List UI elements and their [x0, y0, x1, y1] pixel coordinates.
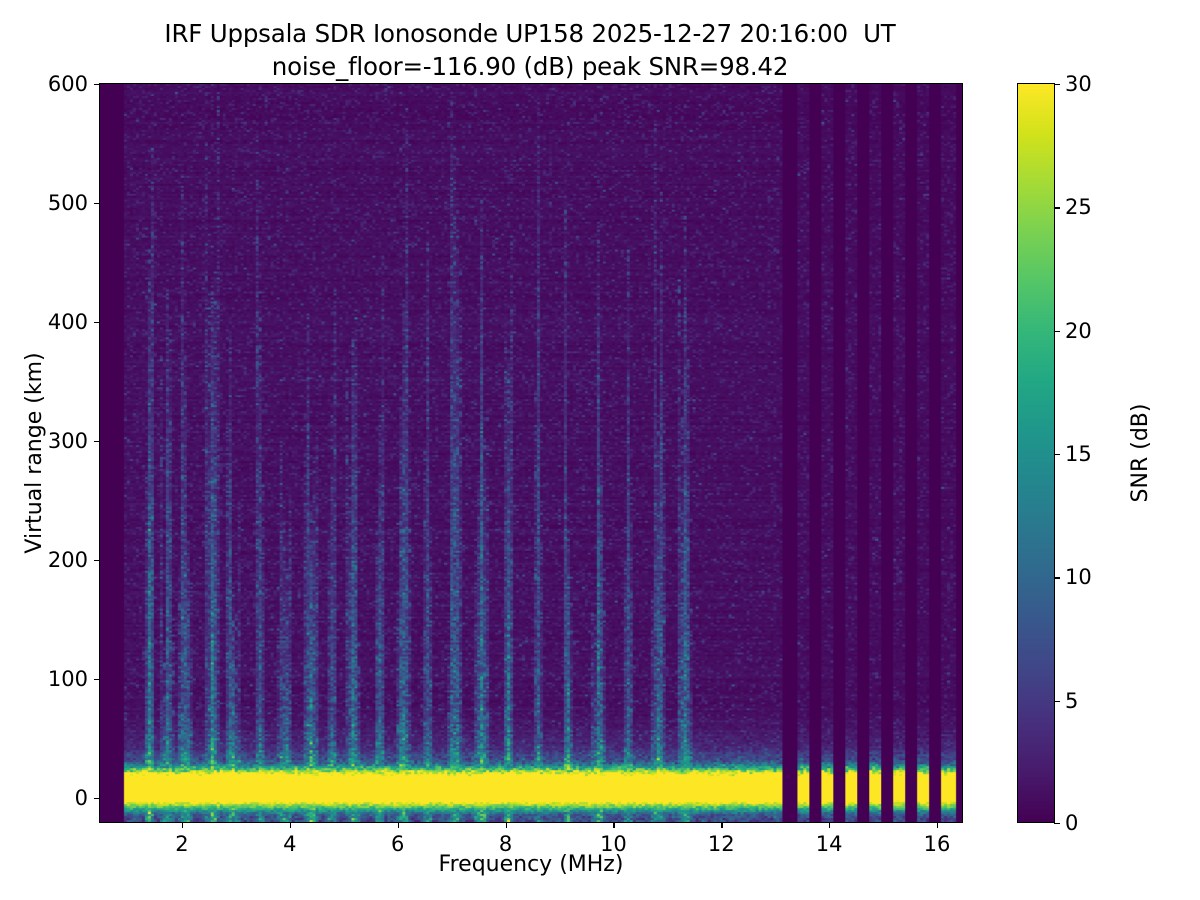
y-tick-label: 500	[48, 191, 88, 215]
x-tick-mark	[398, 822, 399, 828]
colorbar-tick-mark	[1054, 823, 1060, 824]
y-tick-label: 300	[48, 429, 88, 453]
x-tick-mark	[613, 822, 614, 828]
y-tick-mark	[94, 84, 100, 85]
y-tick-mark	[94, 322, 100, 323]
colorbar-tick-label: 0	[1065, 811, 1078, 835]
x-tick-mark	[290, 822, 291, 828]
colorbar-tick-mark	[1054, 701, 1060, 702]
ionogram-plot-area: 0100200300400500600 246810121416	[99, 83, 963, 823]
ionogram-heatmap	[100, 84, 962, 822]
x-axis-label: Frequency (MHz)	[99, 852, 963, 877]
x-tick-mark	[721, 822, 722, 828]
colorbar-tick-label: 25	[1065, 195, 1092, 219]
y-tick-mark	[94, 560, 100, 561]
y-tick-label: 200	[48, 548, 88, 572]
colorbar-tick-mark	[1054, 207, 1060, 208]
figure-title: IRF Uppsala SDR Ionosonde UP158 2025-12-…	[0, 18, 1060, 83]
ionogram-figure: IRF Uppsala SDR Ionosonde UP158 2025-12-…	[0, 0, 1200, 900]
y-tick-label: 100	[48, 667, 88, 691]
colorbar-tick-mark	[1054, 84, 1060, 85]
y-tick-mark	[94, 441, 100, 442]
title-line-2: noise_floor=-116.90 (dB) peak SNR=98.42	[0, 51, 1060, 84]
x-tick-mark	[182, 822, 183, 828]
y-tick-mark	[94, 679, 100, 680]
title-line-1: IRF Uppsala SDR Ionosonde UP158 2025-12-…	[0, 18, 1060, 51]
colorbar-gradient	[1018, 84, 1054, 822]
y-tick-label: 0	[75, 786, 88, 810]
y-tick-mark	[94, 203, 100, 204]
x-tick-mark	[937, 822, 938, 828]
colorbar-tick-mark	[1054, 577, 1060, 578]
y-axis-label: Virtual range (km)	[22, 83, 47, 823]
colorbar-label: SNR (dB)	[1128, 83, 1153, 823]
colorbar: 051015202530	[1017, 83, 1055, 823]
x-tick-mark	[506, 822, 507, 828]
colorbar-tick-label: 5	[1065, 689, 1078, 713]
colorbar-tick-label: 10	[1065, 565, 1092, 589]
y-tick-mark	[94, 798, 100, 799]
colorbar-tick-label: 20	[1065, 319, 1092, 343]
colorbar-tick-mark	[1054, 331, 1060, 332]
y-tick-label: 600	[48, 72, 88, 96]
colorbar-tick-label: 30	[1065, 72, 1092, 96]
colorbar-tick-label: 15	[1065, 442, 1092, 466]
x-tick-mark	[829, 822, 830, 828]
colorbar-tick-mark	[1054, 454, 1060, 455]
y-tick-label: 400	[48, 310, 88, 334]
